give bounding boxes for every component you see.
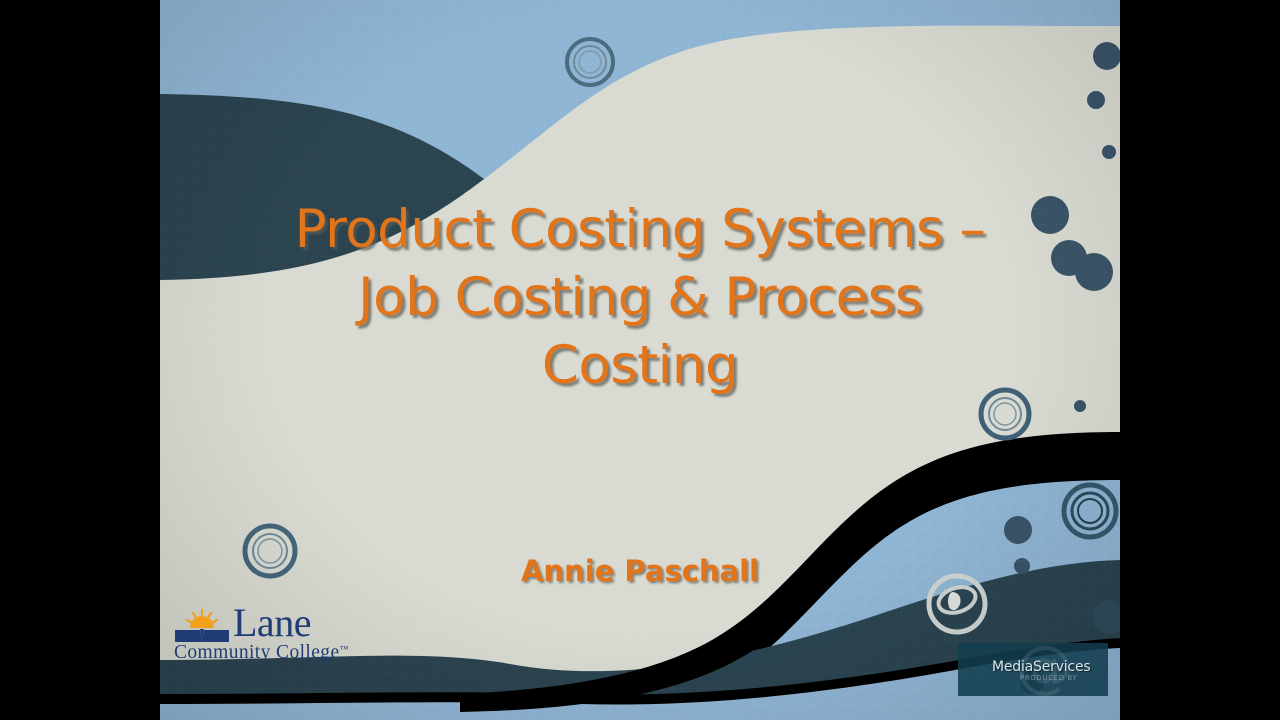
title-line-3: Costing (220, 332, 1060, 400)
letterbox-right (1120, 0, 1280, 720)
title-line-1: Product Costing Systems – (220, 196, 1060, 264)
logo-wordmark: Lane (233, 601, 311, 645)
watermark-sublabel: PRODUCED BY (1020, 674, 1077, 682)
logo-trademark: ™ (340, 644, 349, 654)
title-line-2: Job Costing & Process (220, 264, 1060, 332)
presentation-slide: Product Costing Systems – Job Costing & … (160, 0, 1120, 720)
logo-tagline-text: Community College (174, 642, 340, 663)
mediaservices-watermark: @ MediaServices PRODUCED BY (958, 643, 1108, 696)
letterbox-left (0, 0, 160, 720)
presenter-name: Annie Paschall (521, 554, 759, 588)
lane-community-college-logo: Lane Community College™ (171, 604, 381, 666)
logo-tagline: Community College™ (174, 642, 348, 664)
slide-subtitle: Annie Paschall (220, 554, 1060, 588)
book-sunrise-icon (173, 608, 231, 644)
slide-title: Product Costing Systems – Job Costing & … (220, 196, 1060, 400)
watermark-label: MediaServices (992, 659, 1090, 675)
video-player-frame: Product Costing Systems – Job Costing & … (0, 0, 1280, 720)
